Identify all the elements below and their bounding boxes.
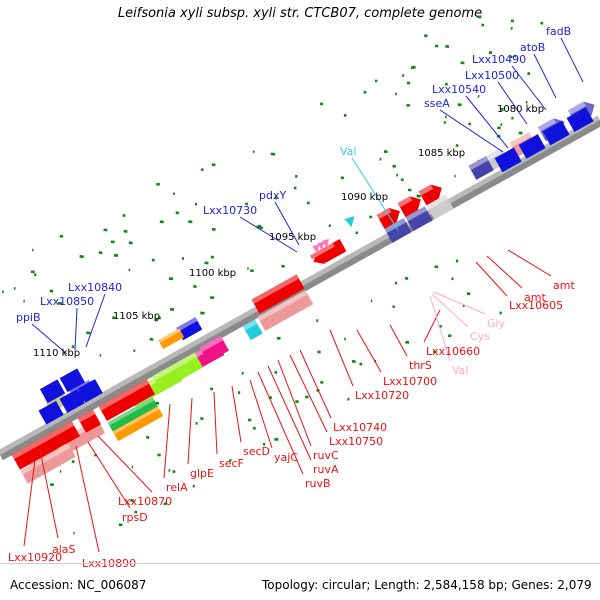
ruler-tick-1105-kbp: 1105 kbp [113,311,160,322]
gene-leader-6 [330,330,353,386]
gene-label-atob[interactable]: atoB [520,42,545,53]
genome-stats-text: Topology: circular; Length: 2,584,158 bp… [262,578,592,592]
gene-label-lxx10700[interactable]: Lxx10700 [383,376,437,387]
gene-leader-5 [357,330,381,372]
accession-text: Accession: NC_006087 [10,578,146,592]
gene-label-lxx10540[interactable]: Lxx10540 [432,84,486,95]
gene-leader-5 [440,110,503,152]
gene-label-lxx10500[interactable]: Lxx10500 [465,70,519,81]
gene-label-secf[interactable]: secF [219,458,244,469]
gene-leader-4 [390,325,407,356]
gene-label-pdxy[interactable]: pdxY [259,190,286,201]
gene-leader-1 [476,262,507,296]
gene-label-fadb[interactable]: fadB [546,26,571,37]
gene-leader-9 [278,360,311,446]
gene-leader-16 [164,404,170,478]
ruler-tick-1100-kbp: 1100 kbp [189,268,236,279]
gene-leader-19 [76,446,99,552]
gene-leader-0 [508,250,551,276]
ruler-tick-1090-kbp: 1090 kbp [341,192,388,203]
gene-label-lxx10840[interactable]: Lxx10840 [68,282,122,293]
gene-leader-13 [232,386,241,442]
gene-label-ruvc[interactable]: ruvC [313,450,339,461]
gene-label-rela[interactable]: relA [166,482,188,493]
gene-label-lxx10920[interactable]: Lxx10920 [8,552,62,563]
gene-label-lxx10850[interactable]: Lxx10850 [40,296,94,307]
gene-leader-0 [561,38,583,82]
gene-label-rpsd[interactable]: rpsD [122,512,148,523]
gene-label-lxx10730[interactable]: Lxx10730 [203,205,257,216]
gene-label-ruva[interactable]: ruvA [313,464,339,475]
gene-label-ssea[interactable]: sseA [424,98,450,109]
gene-leader-3 [424,310,440,342]
gene-label-amt[interactable]: amt [553,280,575,291]
gene-label-lxx10870[interactable]: Lxx10870 [118,496,172,507]
ruler-tick-1110-kbp: 1110 kbp [33,348,80,359]
gene-block-10730[interactable] [158,329,184,349]
ruler-tick-1080-kbp: 1080 kbp [497,104,544,115]
trna-label-val[interactable]: Val [340,146,356,157]
gene-leader-14 [214,392,217,454]
gene-leader-15 [188,398,192,464]
gene-label-lxx10660[interactable]: Lxx10660 [426,346,480,357]
gene-label-glpe[interactable]: glpE [190,468,214,479]
gene-leader-10 [268,366,311,460]
gene-label-thrs[interactable]: thrS [409,360,432,371]
gene-label-lxx10750[interactable]: Lxx10750 [329,436,383,447]
trna-label-val[interactable]: Val [452,365,468,376]
gene-leader-9 [75,308,77,350]
gene-label-amt[interactable]: amt [524,292,546,303]
gene-leader-2 [487,256,522,288]
gene-leader-8 [290,355,327,432]
gene-leader-1 [534,54,556,98]
ruler-tick-1085-kbp: 1085 kbp [418,148,465,159]
ruler-tick-1095-kbp: 1095 kbp [269,232,316,243]
gene-leader-17 [98,436,152,492]
trna-marker-val[interactable] [344,216,354,227]
gene-label-lxx10720[interactable]: Lxx10720 [355,390,409,401]
trna-label-cys[interactable]: Cys [470,331,490,342]
gene-leader-12 [250,380,272,448]
gene-label-lxx10490[interactable]: Lxx10490 [472,54,526,65]
gene-label-ppib[interactable]: ppiB [16,312,41,323]
gene-label-yajc[interactable]: yajC [274,452,298,463]
gene-label-secd[interactable]: secD [243,446,270,457]
trna-label-gly[interactable]: Gly [487,318,505,329]
gene-label-ruvb[interactable]: ruvB [305,478,331,489]
gene-label-lxx10740[interactable]: Lxx10740 [333,422,387,433]
